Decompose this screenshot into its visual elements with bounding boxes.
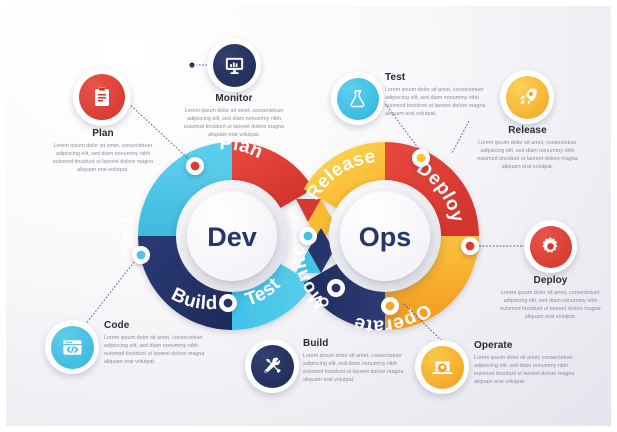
infographic-canvas: Dev Ops Plan Code Build Test Release <box>0 0 617 432</box>
loop-nodes <box>0 0 617 432</box>
